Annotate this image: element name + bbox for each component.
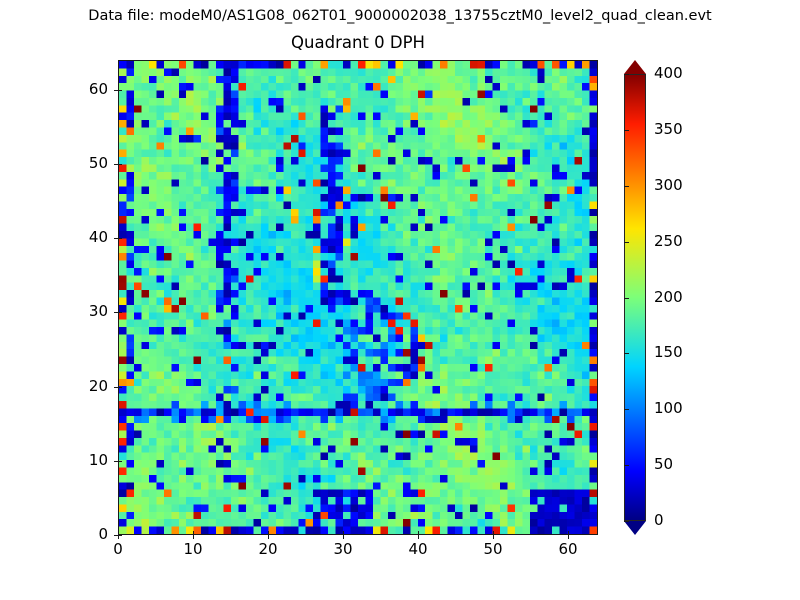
x-tick-label: 60 — [538, 541, 598, 558]
colorbar-tick-label: 50 — [654, 456, 673, 473]
x-tick-mark — [268, 535, 269, 539]
y-tick-mark — [118, 535, 122, 536]
x-tick-label: 20 — [238, 541, 298, 558]
x-tick-mark — [493, 535, 494, 539]
y-tick-label: 50 — [68, 155, 108, 172]
heatmap-axes[interactable] — [118, 60, 598, 535]
colorbar-over-arrow-icon — [624, 60, 646, 74]
colorbar-tick-label: 100 — [654, 400, 683, 417]
colorbar-tick-mark — [624, 521, 629, 522]
y-tick-mark — [118, 90, 122, 91]
heatmap-image[interactable] — [119, 61, 597, 534]
x-tick-label: 50 — [463, 541, 523, 558]
colorbar-tick-label: 200 — [654, 289, 683, 306]
y-tick-mark — [114, 90, 118, 91]
y-tick-label: 10 — [68, 452, 108, 469]
y-tick-mark — [118, 238, 122, 239]
colorbar-tick-mark — [624, 465, 629, 466]
y-tick-label: 0 — [68, 526, 108, 543]
y-tick-mark — [118, 312, 122, 313]
colorbar-tick-label: 0 — [654, 512, 664, 529]
x-tick-mark — [193, 535, 194, 539]
colorbar-tick-label: 250 — [654, 233, 683, 250]
x-tick-mark — [418, 535, 419, 539]
y-tick-mark — [114, 535, 118, 536]
y-tick-label: 60 — [68, 81, 108, 98]
x-tick-label: 10 — [163, 541, 223, 558]
y-tick-mark — [114, 387, 118, 388]
colorbar-tick-mark — [624, 353, 629, 354]
colorbar-tick-label: 350 — [654, 121, 683, 138]
x-tick-label: 40 — [388, 541, 448, 558]
colorbar-under-arrow-icon — [624, 521, 646, 535]
y-tick-mark — [118, 387, 122, 388]
colorbar[interactable]: 050100150200250300350400 — [624, 60, 646, 535]
colorbar-tick-label: 300 — [654, 177, 683, 194]
colorbar-tick-mark — [624, 409, 629, 410]
y-tick-mark — [114, 312, 118, 313]
y-tick-mark — [118, 461, 122, 462]
colorbar-tick-mark — [624, 74, 629, 75]
page-title: Quadrant 0 DPH — [118, 33, 598, 53]
y-tick-label: 20 — [68, 378, 108, 395]
colorbar-tick-mark — [624, 186, 629, 187]
colorbar-tick-label: 150 — [654, 344, 683, 361]
y-tick-mark — [114, 461, 118, 462]
x-tick-mark — [568, 535, 569, 539]
colorbar-tick-mark — [624, 242, 629, 243]
y-tick-label: 30 — [68, 303, 108, 320]
x-tick-mark — [343, 535, 344, 539]
x-tick-label: 0 — [88, 541, 148, 558]
colorbar-tick-mark — [624, 130, 629, 131]
x-tick-label: 30 — [313, 541, 373, 558]
y-tick-mark — [114, 238, 118, 239]
colorbar-tick-label: 400 — [654, 65, 683, 82]
data-file-suptitle: Data file: modeM0/AS1G08_062T01_90000020… — [0, 7, 800, 25]
colorbar-tick-mark — [624, 298, 629, 299]
y-tick-label: 40 — [68, 229, 108, 246]
y-tick-mark — [114, 164, 118, 165]
figure-canvas: Data file: modeM0/AS1G08_062T01_90000020… — [0, 0, 800, 600]
y-tick-mark — [118, 164, 122, 165]
